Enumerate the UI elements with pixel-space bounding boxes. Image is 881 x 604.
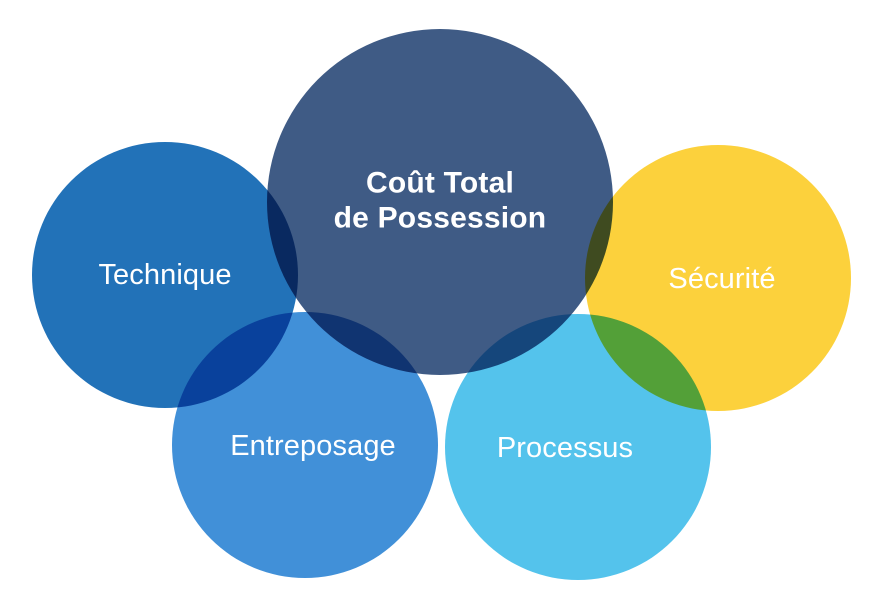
label-cout-total-de-possession: Coût Total de Possession xyxy=(334,166,547,237)
label-entreposage: Entreposage xyxy=(230,429,396,463)
label-processus: Processus xyxy=(497,431,633,465)
label-securite: Sécurité xyxy=(668,262,775,296)
venn-circles-canvas xyxy=(0,0,881,604)
label-technique: Technique xyxy=(98,258,231,292)
venn-shape-group xyxy=(32,29,851,580)
venn-diagram: Technique Coût Total de Possession Sécur… xyxy=(0,0,881,604)
